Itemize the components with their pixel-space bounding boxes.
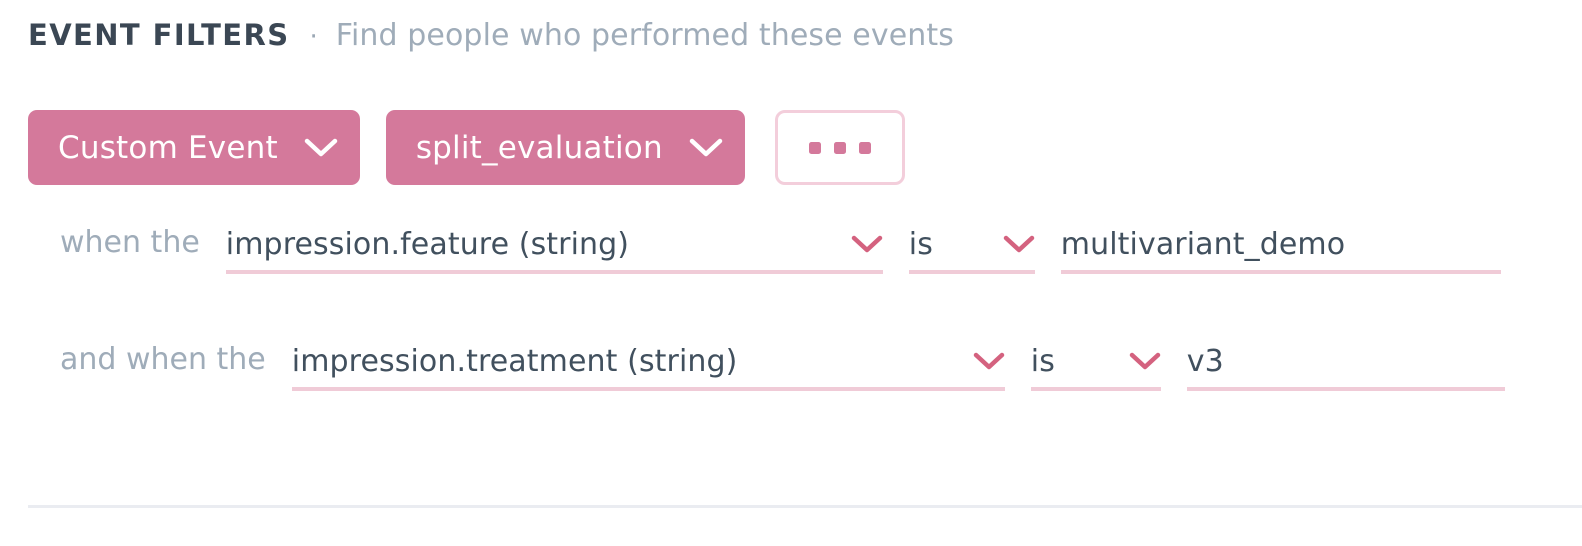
filter-property-select[interactable]: impression.treatment (string) xyxy=(292,346,1005,392)
filter-property-value: impression.treatment (string) xyxy=(292,346,738,378)
chevron-down-icon xyxy=(304,137,338,159)
event-name-button[interactable]: split_evaluation xyxy=(386,110,745,185)
filter-prefix-label: and when the xyxy=(60,345,266,391)
chevron-down-icon xyxy=(689,137,723,159)
ellipsis-icon xyxy=(859,142,871,154)
filter-operator-value: is xyxy=(909,229,933,261)
section-header: EVENT FILTERS · Find people who performe… xyxy=(28,18,954,53)
chevron-down-icon xyxy=(1107,351,1161,371)
section-divider xyxy=(28,505,1582,508)
filter-value-input[interactable]: v3 xyxy=(1187,346,1505,392)
section-subtitle: Find people who performed these events xyxy=(336,18,954,53)
filter-value-text: v3 xyxy=(1187,346,1224,378)
ellipsis-icon xyxy=(809,142,821,154)
filter-property-value: impression.feature (string) xyxy=(226,229,629,261)
filter-operator-select[interactable]: is xyxy=(909,229,1035,275)
filter-row: when the impression.feature (string) is … xyxy=(60,228,1501,274)
filter-value-input[interactable]: multivariant_demo xyxy=(1061,229,1501,275)
filter-value-text: multivariant_demo xyxy=(1061,229,1345,261)
filter-operator-select[interactable]: is xyxy=(1031,346,1161,392)
filter-property-select[interactable]: impression.feature (string) xyxy=(226,229,883,275)
page-title: EVENT FILTERS xyxy=(28,18,290,52)
event-more-options-button[interactable] xyxy=(775,110,905,185)
filter-row: and when the impression.treatment (strin… xyxy=(60,345,1505,391)
event-name-label: split_evaluation xyxy=(416,130,663,166)
event-type-button[interactable]: Custom Event xyxy=(28,110,360,185)
chevron-down-icon xyxy=(981,234,1035,254)
event-selector-row: Custom Event split_evaluation xyxy=(28,110,905,185)
filter-prefix-label: when the xyxy=(60,228,200,274)
chevron-down-icon xyxy=(829,234,883,254)
filter-operator-value: is xyxy=(1031,346,1055,378)
chevron-down-icon xyxy=(951,351,1005,371)
header-separator: · xyxy=(310,24,318,50)
event-type-label: Custom Event xyxy=(58,130,278,166)
ellipsis-icon xyxy=(834,142,846,154)
